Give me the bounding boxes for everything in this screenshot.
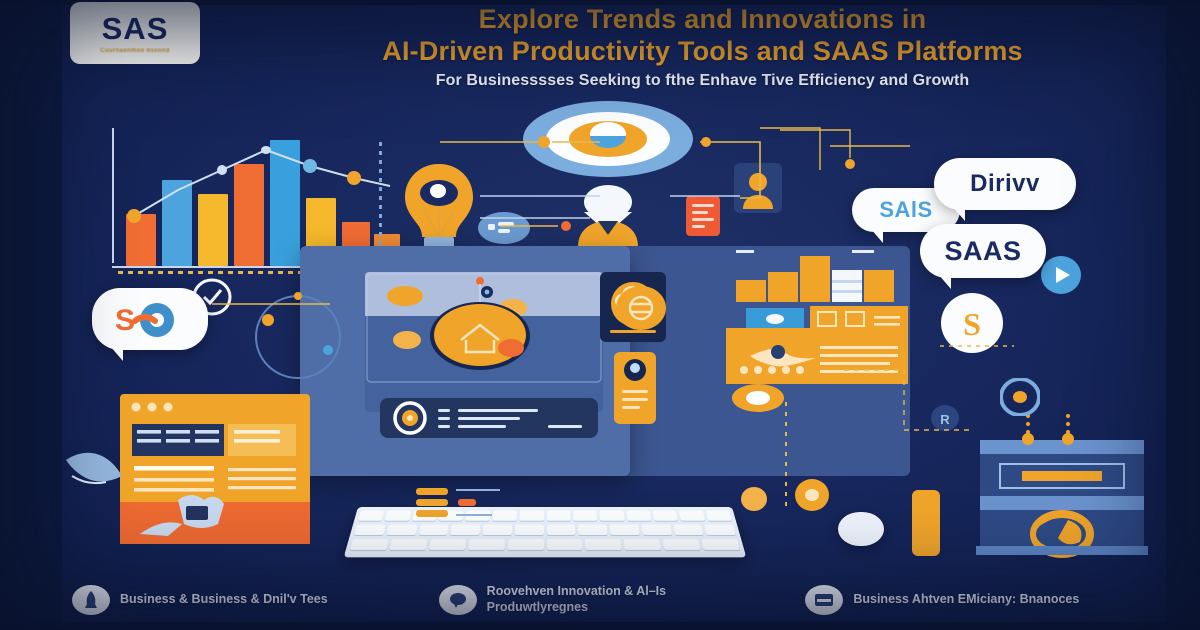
poster-canvas: SAS Cuurnaonmoo bsxond Explore Trends an… [0,0,1200,630]
vignette-overlay [0,0,1200,630]
